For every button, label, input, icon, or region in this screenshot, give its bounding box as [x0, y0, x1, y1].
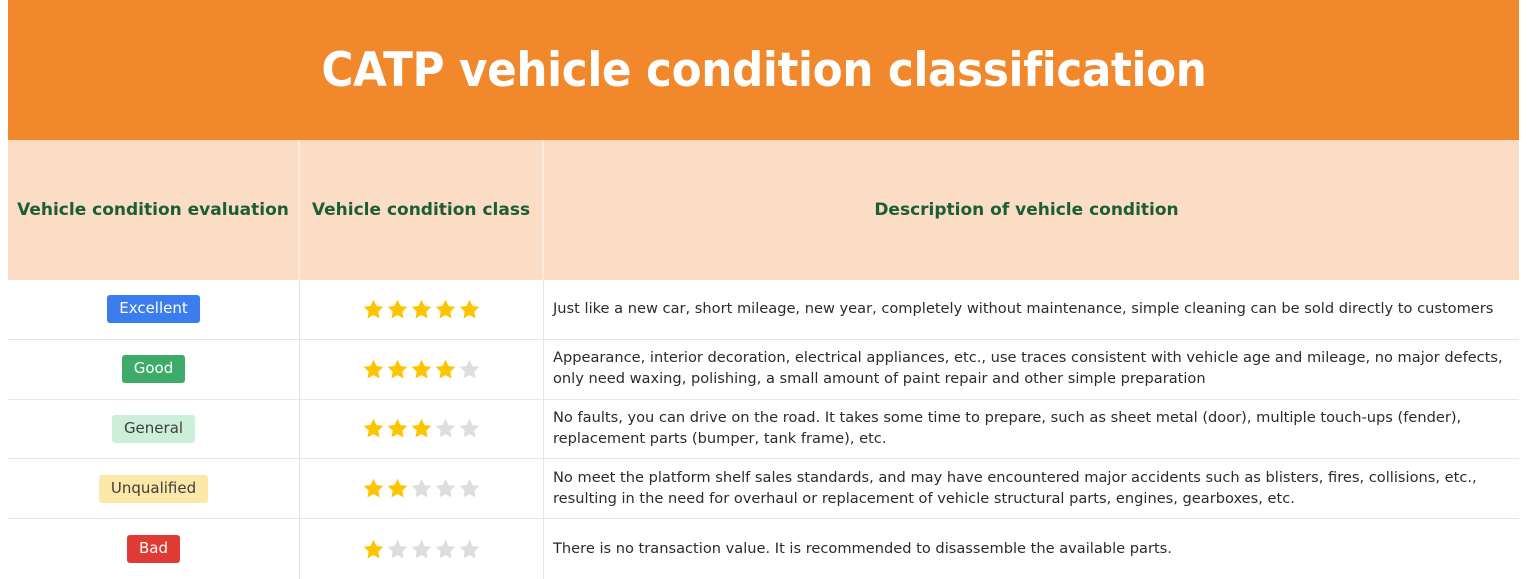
status-badge: Bad [127, 535, 180, 563]
cell-evaluation: Bad [8, 519, 300, 579]
cell-class [300, 280, 544, 339]
status-badge: Good [122, 355, 186, 383]
vehicle-condition-table: Vehicle condition evaluation Vehicle con… [8, 140, 1519, 579]
star-filled-icon [362, 538, 385, 561]
star-empty-icon [410, 477, 433, 500]
star-filled-icon [386, 417, 409, 440]
star-filled-icon [410, 417, 433, 440]
star-filled-icon [434, 298, 457, 321]
star-filled-icon [410, 298, 433, 321]
page-root: CATP vehicle condition classification Ve… [0, 0, 1527, 579]
column-header-evaluation: Vehicle condition evaluation [8, 140, 300, 280]
cell-evaluation: Good [8, 340, 300, 399]
star-rating [362, 477, 481, 500]
cell-evaluation: Unqualified [8, 459, 300, 518]
table-row: UnqualifiedNo meet the platform shelf sa… [8, 459, 1519, 519]
column-header-description: Description of vehicle condition [544, 140, 1519, 280]
table-row: ExcellentJust like a new car, short mile… [8, 280, 1519, 340]
star-rating [362, 358, 481, 381]
star-filled-icon [458, 298, 481, 321]
table-row: GeneralNo faults, you can drive on the r… [8, 400, 1519, 460]
star-empty-icon [458, 417, 481, 440]
table-header-row: Vehicle condition evaluation Vehicle con… [8, 140, 1519, 280]
star-filled-icon [386, 477, 409, 500]
star-empty-icon [434, 538, 457, 561]
table-body: ExcellentJust like a new car, short mile… [8, 280, 1519, 579]
star-empty-icon [434, 477, 457, 500]
star-empty-icon [410, 538, 433, 561]
cell-description: Just like a new car, short mileage, new … [544, 280, 1519, 339]
cell-evaluation: General [8, 400, 300, 459]
status-badge: Excellent [107, 295, 200, 323]
cell-description: Appearance, interior decoration, electri… [544, 340, 1519, 399]
star-empty-icon [458, 477, 481, 500]
star-filled-icon [410, 358, 433, 381]
cell-class [300, 340, 544, 399]
star-filled-icon [362, 417, 385, 440]
star-empty-icon [458, 538, 481, 561]
star-filled-icon [362, 358, 385, 381]
star-rating [362, 538, 481, 561]
star-empty-icon [458, 358, 481, 381]
status-badge: General [112, 415, 195, 443]
star-filled-icon [434, 358, 457, 381]
star-rating [362, 298, 481, 321]
cell-description: No faults, you can drive on the road. It… [544, 400, 1519, 459]
star-filled-icon [362, 477, 385, 500]
cell-class [300, 459, 544, 518]
star-filled-icon [386, 298, 409, 321]
table-row: GoodAppearance, interior decoration, ele… [8, 340, 1519, 400]
star-empty-icon [386, 538, 409, 561]
star-filled-icon [362, 298, 385, 321]
table-row: BadThere is no transaction value. It is … [8, 519, 1519, 579]
column-header-class: Vehicle condition class [300, 140, 544, 280]
title-banner: CATP vehicle condition classification [8, 0, 1519, 140]
page-title: CATP vehicle condition classification [321, 47, 1206, 94]
cell-description: No meet the platform shelf sales standar… [544, 459, 1519, 518]
star-rating [362, 417, 481, 440]
cell-class [300, 400, 544, 459]
status-badge: Unqualified [99, 475, 208, 503]
star-empty-icon [434, 417, 457, 440]
star-filled-icon [386, 358, 409, 381]
cell-evaluation: Excellent [8, 280, 300, 339]
cell-description: There is no transaction value. It is rec… [544, 519, 1519, 579]
cell-class [300, 519, 544, 579]
